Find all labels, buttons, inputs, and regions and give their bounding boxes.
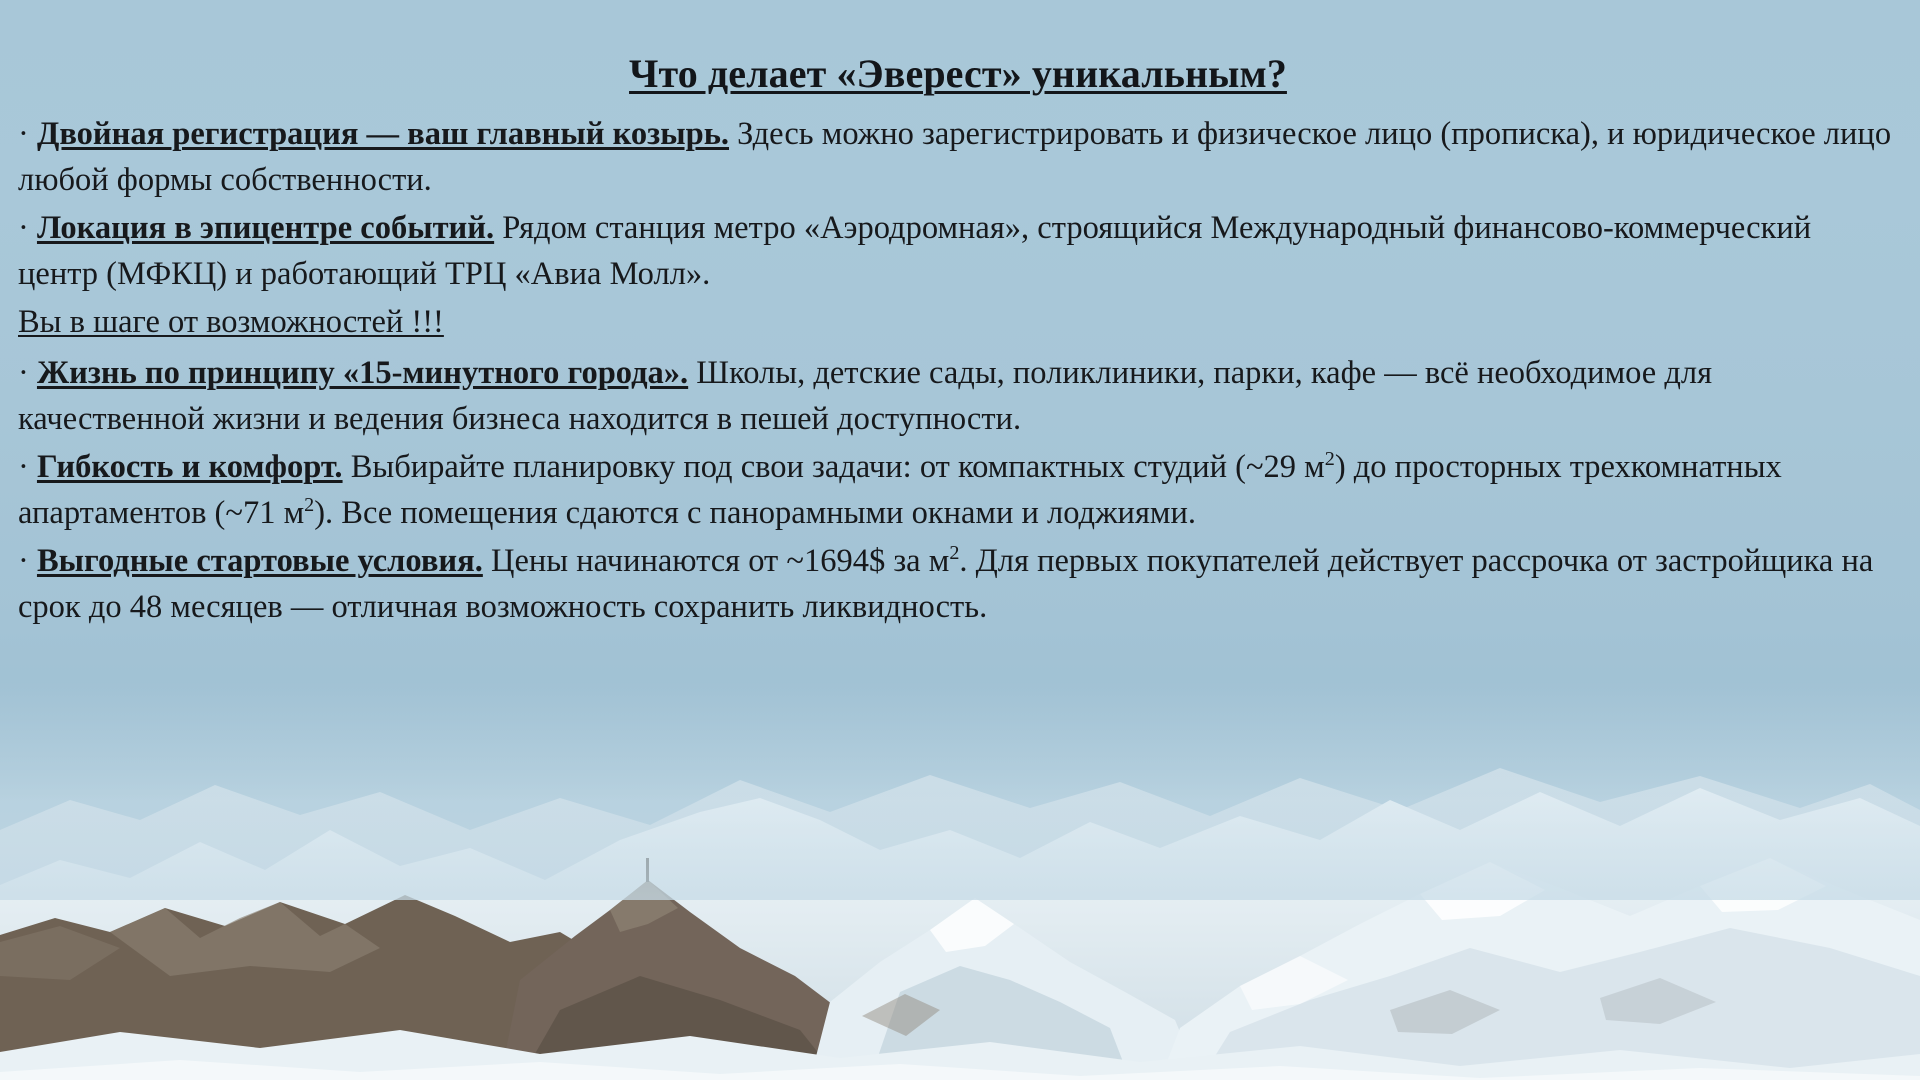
bullet-body-flexibility-3: ). Все помещения сдаются с панорамными о… (314, 495, 1196, 531)
area-unit-superscript-2: 2 (304, 494, 314, 516)
bullet-item-flexibility: · Гибкость и комфорт. Выбирайте планиров… (18, 444, 1898, 536)
mountain-range-photo (0, 680, 1920, 1080)
bullet-lead-dual-registration: Двойная регистрация — ваш главный козырь… (37, 116, 729, 152)
bullet-item-dual-registration: · Двойная регистрация — ваш главный козы… (18, 111, 1898, 203)
page-title: Что делает «Эверест» уникальным? (18, 52, 1898, 97)
presentation-slide: Что делает «Эверест» уникальным? · Двойн… (0, 0, 1920, 1080)
callout-line: Вы в шаге от возможностей !!! (18, 299, 1898, 347)
slide-content: Что делает «Эверест» уникальным? · Двойн… (0, 0, 1920, 632)
price-unit-superscript: 2 (949, 542, 959, 564)
bullet-item-starting-terms: · Выгодные стартовые условия. Цены начин… (18, 538, 1898, 630)
bullet-marker: · (18, 210, 29, 246)
bullet-marker: · (18, 449, 29, 485)
area-unit-superscript-1: 2 (1325, 448, 1335, 470)
bullet-item-location: · Локация в эпицентре событий. Рядом ста… (18, 205, 1898, 297)
bullet-item-15-minute-city: · Жизнь по принципу «15-минутного города… (18, 350, 1898, 442)
bullet-body-flexibility-1: Выбирайте планировку под свои задачи: от… (343, 449, 1325, 485)
bullet-marker: · (18, 355, 29, 391)
bullet-marker: · (18, 543, 29, 579)
bullet-lead-15-minute-city: Жизнь по принципу «15-минутного города». (37, 355, 688, 391)
page-title-text: Что делает «Эверест» уникальным? (629, 51, 1287, 96)
bullet-lead-location: Локация в эпицентре событий. (37, 210, 494, 246)
callout-text: Вы в шаге от возможностей !!! (18, 299, 444, 345)
bullet-lead-starting-terms: Выгодные стартовые условия. (37, 543, 483, 579)
bullet-marker: · (18, 116, 29, 152)
bullet-lead-flexibility: Гибкость и комфорт. (37, 449, 343, 485)
bullet-body-starting-terms-1: Цены начинаются от ~1694$ за м (483, 543, 949, 579)
